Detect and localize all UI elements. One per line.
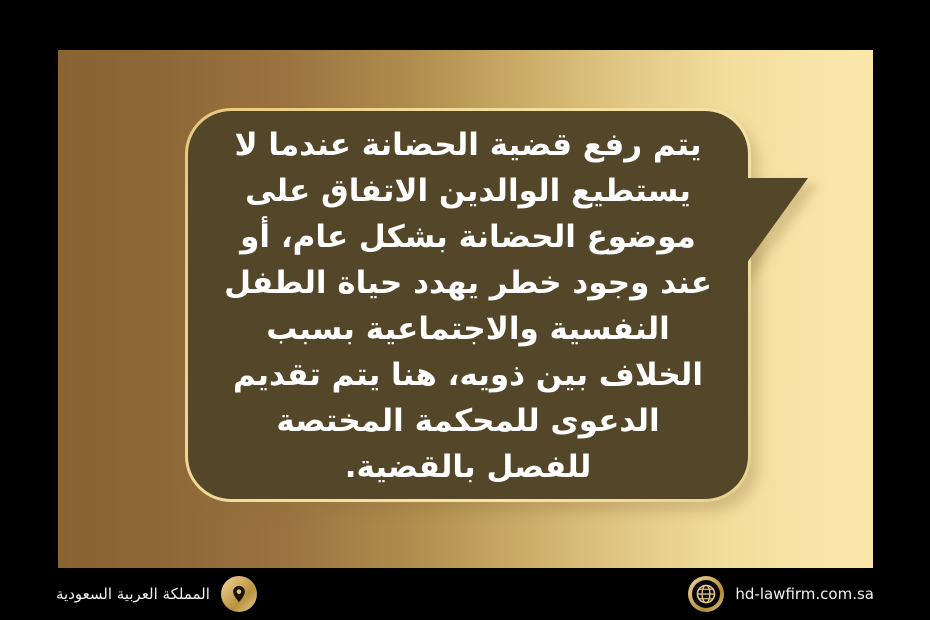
- footer-website[interactable]: hd-lawfirm.com.sa: [688, 568, 874, 620]
- location-label: المملكة العربية السعودية: [56, 585, 210, 603]
- globe-icon: [688, 576, 724, 612]
- location-pin-icon: [221, 576, 257, 612]
- bubble-paragraph: يتم رفع قضية الحضانة عندما لا يستطيع الو…: [219, 122, 717, 490]
- footer-bar: المملكة العربية السعودية hd-lawfirm.com.…: [0, 568, 930, 620]
- poster-canvas: يتم رفع قضية الحضانة عندما لا يستطيع الو…: [0, 0, 930, 620]
- speech-bubble: يتم رفع قضية الحضانة عندما لا يستطيع الو…: [185, 108, 751, 502]
- bubble-text-container: يتم رفع قضية الحضانة عندما لا يستطيع الو…: [185, 108, 751, 502]
- footer-location: المملكة العربية السعودية: [56, 568, 257, 620]
- website-label[interactable]: hd-lawfirm.com.sa: [735, 585, 874, 603]
